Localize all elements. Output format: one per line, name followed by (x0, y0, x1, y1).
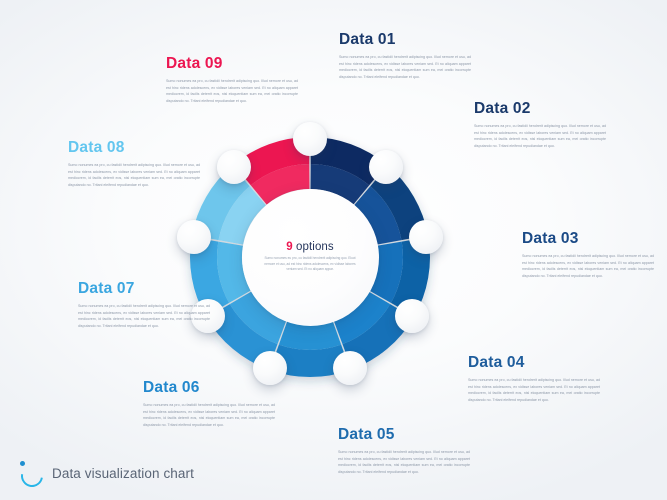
infographic-canvas: 9 options Sumo nonumes eu pro, cu fastid… (0, 0, 667, 500)
callout-title-data-03: Data 03 (522, 230, 654, 247)
callout-body-data-08: Sumo nonumes ea pro, cu fastidii hendrer… (68, 162, 200, 188)
callout-title-data-09: Data 09 (166, 55, 298, 72)
callout-body-data-07: Sumo nonumes ea pro, cu fastidii hendrer… (78, 303, 210, 329)
callout-title-data-05: Data 05 (338, 426, 470, 443)
callout-body-data-05: Sumo nonumes ea pro, cu fastidii hendrer… (338, 449, 470, 475)
callout-body-data-03: Sumo nonumes ea pro, cu fastidii hendrer… (522, 253, 654, 279)
connector-sphere-4[interactable] (395, 299, 429, 333)
chart-center-description: Sumo nonumes eu pro, cu fastidii hendrer… (261, 256, 359, 273)
callout-data-03[interactable]: Data 03 Sumo nonumes ea pro, cu fastidii… (522, 230, 654, 279)
callout-title-data-06: Data 06 (143, 379, 275, 396)
callout-data-01[interactable]: Data 01 Sumo nonumes ea pro, cu fastidii… (339, 31, 471, 80)
donut-chart[interactable]: 9 options Sumo nonumes eu pro, cu fastid… (190, 137, 430, 377)
callout-data-09[interactable]: Data 09 Sumo nonumes ea pro, cu fastidii… (166, 55, 298, 104)
connector-sphere-8[interactable] (177, 220, 211, 254)
callout-data-06[interactable]: Data 06 Sumo nonumes ea pro, cu fastidii… (143, 379, 275, 428)
footer-logo[interactable]: Data visualization chart (18, 460, 194, 486)
connector-sphere-2[interactable] (369, 150, 403, 184)
callout-data-02[interactable]: Data 02 Sumo nonumes ea pro, cu fastidii… (474, 100, 606, 149)
callout-title-data-02: Data 02 (474, 100, 606, 117)
connector-sphere-3[interactable] (409, 220, 443, 254)
callout-body-data-06: Sumo nonumes ea pro, cu fastidii hendrer… (143, 402, 275, 428)
callout-title-data-08: Data 08 (68, 139, 200, 156)
callout-body-data-09: Sumo nonumes ea pro, cu fastidii hendrer… (166, 78, 298, 104)
footer-logo-label: Data visualization chart (52, 466, 194, 481)
circular-arc-logo-icon (18, 460, 44, 486)
callout-title-data-01: Data 01 (339, 31, 471, 48)
callout-body-data-04: Sumo nonumes ea pro, cu fastidii hendrer… (468, 377, 600, 403)
callout-data-04[interactable]: Data 04 Sumo nonumes ea pro, cu fastidii… (468, 354, 600, 403)
connector-sphere-5[interactable] (333, 351, 367, 385)
connector-sphere-1[interactable] (293, 122, 327, 156)
chart-center-hub: 9 options Sumo nonumes eu pro, cu fastid… (242, 189, 379, 326)
callout-body-data-01: Sumo nonumes ea pro, cu fastidii hendrer… (339, 54, 471, 80)
connector-sphere-9[interactable] (217, 150, 251, 184)
callout-data-07[interactable]: Data 07 Sumo nonumes ea pro, cu fastidii… (78, 280, 210, 329)
callout-title-data-07: Data 07 (78, 280, 210, 297)
chart-center-word: options (296, 241, 334, 253)
callout-title-data-04: Data 04 (468, 354, 600, 371)
callout-data-05[interactable]: Data 05 Sumo nonumes ea pro, cu fastidii… (338, 426, 470, 475)
callout-data-08[interactable]: Data 08 Sumo nonumes ea pro, cu fastidii… (68, 139, 200, 188)
chart-center-heading: 9 options (286, 241, 334, 253)
callout-body-data-02: Sumo nonumes ea pro, cu fastidii hendrer… (474, 123, 606, 149)
